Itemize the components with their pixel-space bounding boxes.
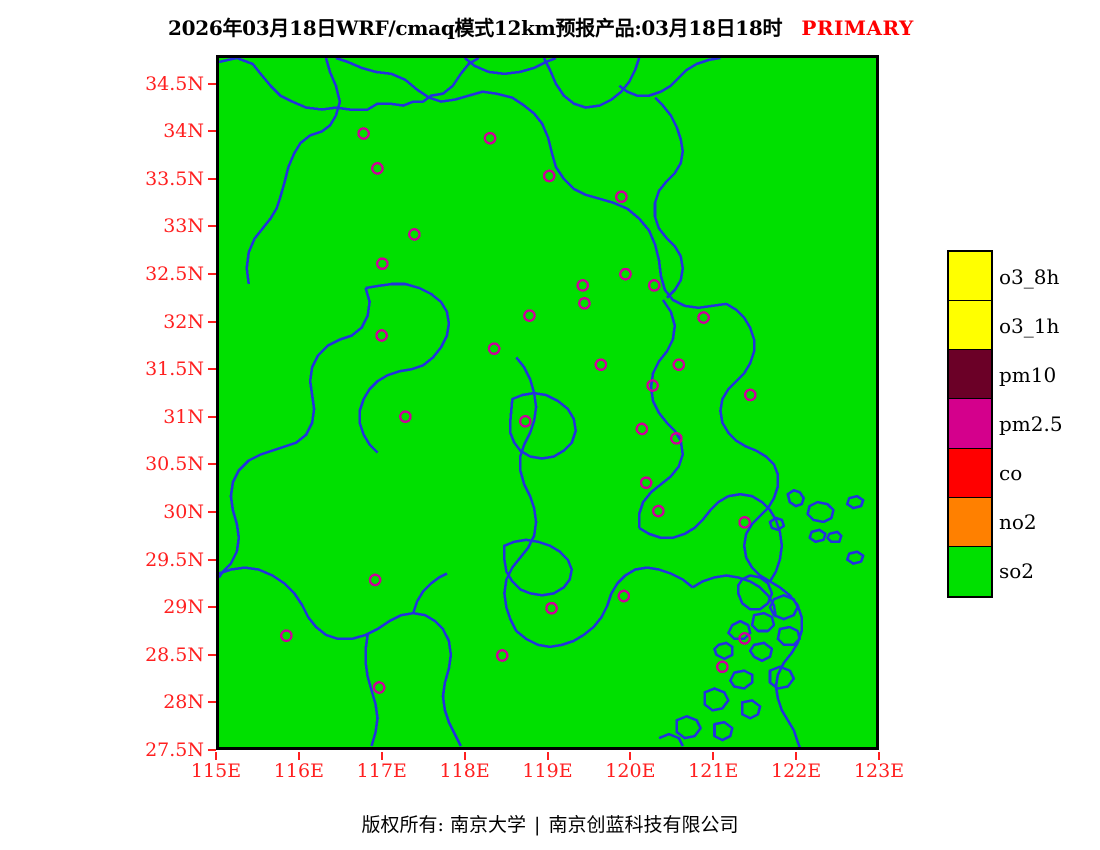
- y-axis-tick-label: 33N: [0, 215, 204, 237]
- title-primary-tag: PRIMARY: [801, 16, 913, 40]
- legend-label-no2: no2: [999, 510, 1037, 534]
- legend-swatch-pm2-5[interactable]: [949, 399, 991, 448]
- y-axis-tick-mark: [208, 83, 216, 85]
- x-axis-tick-mark: [712, 752, 714, 760]
- y-axis-tick-label: 32N: [0, 311, 204, 333]
- map-vector-layer: [219, 58, 876, 747]
- map-plot-area[interactable]: [216, 55, 879, 750]
- y-axis-tick-label: 34.5N: [0, 73, 204, 95]
- y-axis-tick-mark: [208, 273, 216, 275]
- y-axis-tick-mark: [208, 368, 216, 370]
- x-axis-tick-mark: [298, 752, 300, 760]
- y-axis-tick-label: 31.5N: [0, 358, 204, 380]
- legend-colorbar[interactable]: [947, 250, 993, 598]
- y-axis-tick-label: 29.5N: [0, 549, 204, 571]
- x-axis-tick-mark: [215, 752, 217, 760]
- y-axis-tick-mark: [208, 654, 216, 656]
- footer-separator: |: [532, 814, 542, 836]
- x-axis-tick-label: 119E: [522, 760, 572, 782]
- x-axis-tick-label: 115E: [191, 760, 241, 782]
- legend-label-so2: so2: [999, 559, 1034, 583]
- y-axis-tick-mark: [208, 463, 216, 465]
- legend-swatch-co[interactable]: [949, 449, 991, 498]
- legend-swatch-no2[interactable]: [949, 498, 991, 547]
- map-background-fill: [219, 58, 876, 747]
- y-axis-tick-label: 30.5N: [0, 453, 204, 475]
- y-axis-tick-mark: [208, 559, 216, 561]
- y-axis-tick-mark: [208, 511, 216, 513]
- x-axis-tick-mark: [464, 752, 466, 760]
- legend-swatch-so2[interactable]: [949, 547, 991, 596]
- y-axis-tick-label: 28N: [0, 691, 204, 713]
- y-axis-tick-mark: [208, 225, 216, 227]
- legend-swatch-pm10[interactable]: [949, 350, 991, 399]
- legend-label-co: co: [999, 461, 1022, 485]
- y-axis-tick-mark: [208, 749, 216, 751]
- legend-swatch-o3-1h[interactable]: [949, 301, 991, 350]
- x-axis-tick-label: 123E: [854, 760, 904, 782]
- y-axis-tick-label: 27.5N: [0, 739, 204, 761]
- legend-labels: o3_8ho3_1hpm10pm2.5cono2so2: [999, 250, 1099, 598]
- y-axis-tick-mark: [208, 416, 216, 418]
- legend-label-o3-1h: o3_1h: [999, 314, 1059, 338]
- y-axis-tick-label: 31N: [0, 406, 204, 428]
- x-axis-tick-label: 117E: [357, 760, 407, 782]
- x-axis-tick-mark: [547, 752, 549, 760]
- x-axis-tick-label: 118E: [440, 760, 490, 782]
- y-axis-tick-label: 33.5N: [0, 168, 204, 190]
- y-axis-tick-mark: [208, 130, 216, 132]
- footer-copyright: 版权所有: 南京大学 | 南京创蓝科技有限公司: [0, 810, 1100, 837]
- x-axis-tick-label: 116E: [274, 760, 324, 782]
- y-axis-tick-mark: [208, 178, 216, 180]
- legend-label-pm2-5: pm2.5: [999, 412, 1063, 436]
- x-axis-tick-label: 122E: [771, 760, 821, 782]
- x-axis-tick-label: 120E: [605, 760, 655, 782]
- y-axis-tick-label: 29N: [0, 596, 204, 618]
- x-axis-tick-mark: [381, 752, 383, 760]
- legend-label-pm10: pm10: [999, 363, 1056, 387]
- y-axis-tick-mark: [208, 606, 216, 608]
- y-axis-tick-label: 32.5N: [0, 263, 204, 285]
- x-axis-tick-label: 121E: [688, 760, 738, 782]
- y-axis-tick-label: 34N: [0, 120, 204, 142]
- legend-swatch-o3-8h[interactable]: [949, 252, 991, 301]
- y-axis-tick-label: 28.5N: [0, 644, 204, 666]
- x-axis-tick-mark: [629, 752, 631, 760]
- y-axis-tick-mark: [208, 701, 216, 703]
- x-axis-tick-mark: [878, 752, 880, 760]
- y-axis-tick-mark: [208, 321, 216, 323]
- page-title: 2026年03月18日WRF/cmaq模式12km预报产品:03月18日18时 …: [0, 12, 1100, 41]
- title-main-text: 2026年03月18日WRF/cmaq模式12km预报产品:03月18日18时: [168, 16, 782, 40]
- footer-company: 南京创蓝科技有限公司: [548, 814, 738, 836]
- footer-owner: 版权所有: 南京大学: [362, 814, 526, 836]
- x-axis-tick-mark: [795, 752, 797, 760]
- y-axis-tick-label: 30N: [0, 501, 204, 523]
- legend-label-o3-8h: o3_8h: [999, 265, 1059, 289]
